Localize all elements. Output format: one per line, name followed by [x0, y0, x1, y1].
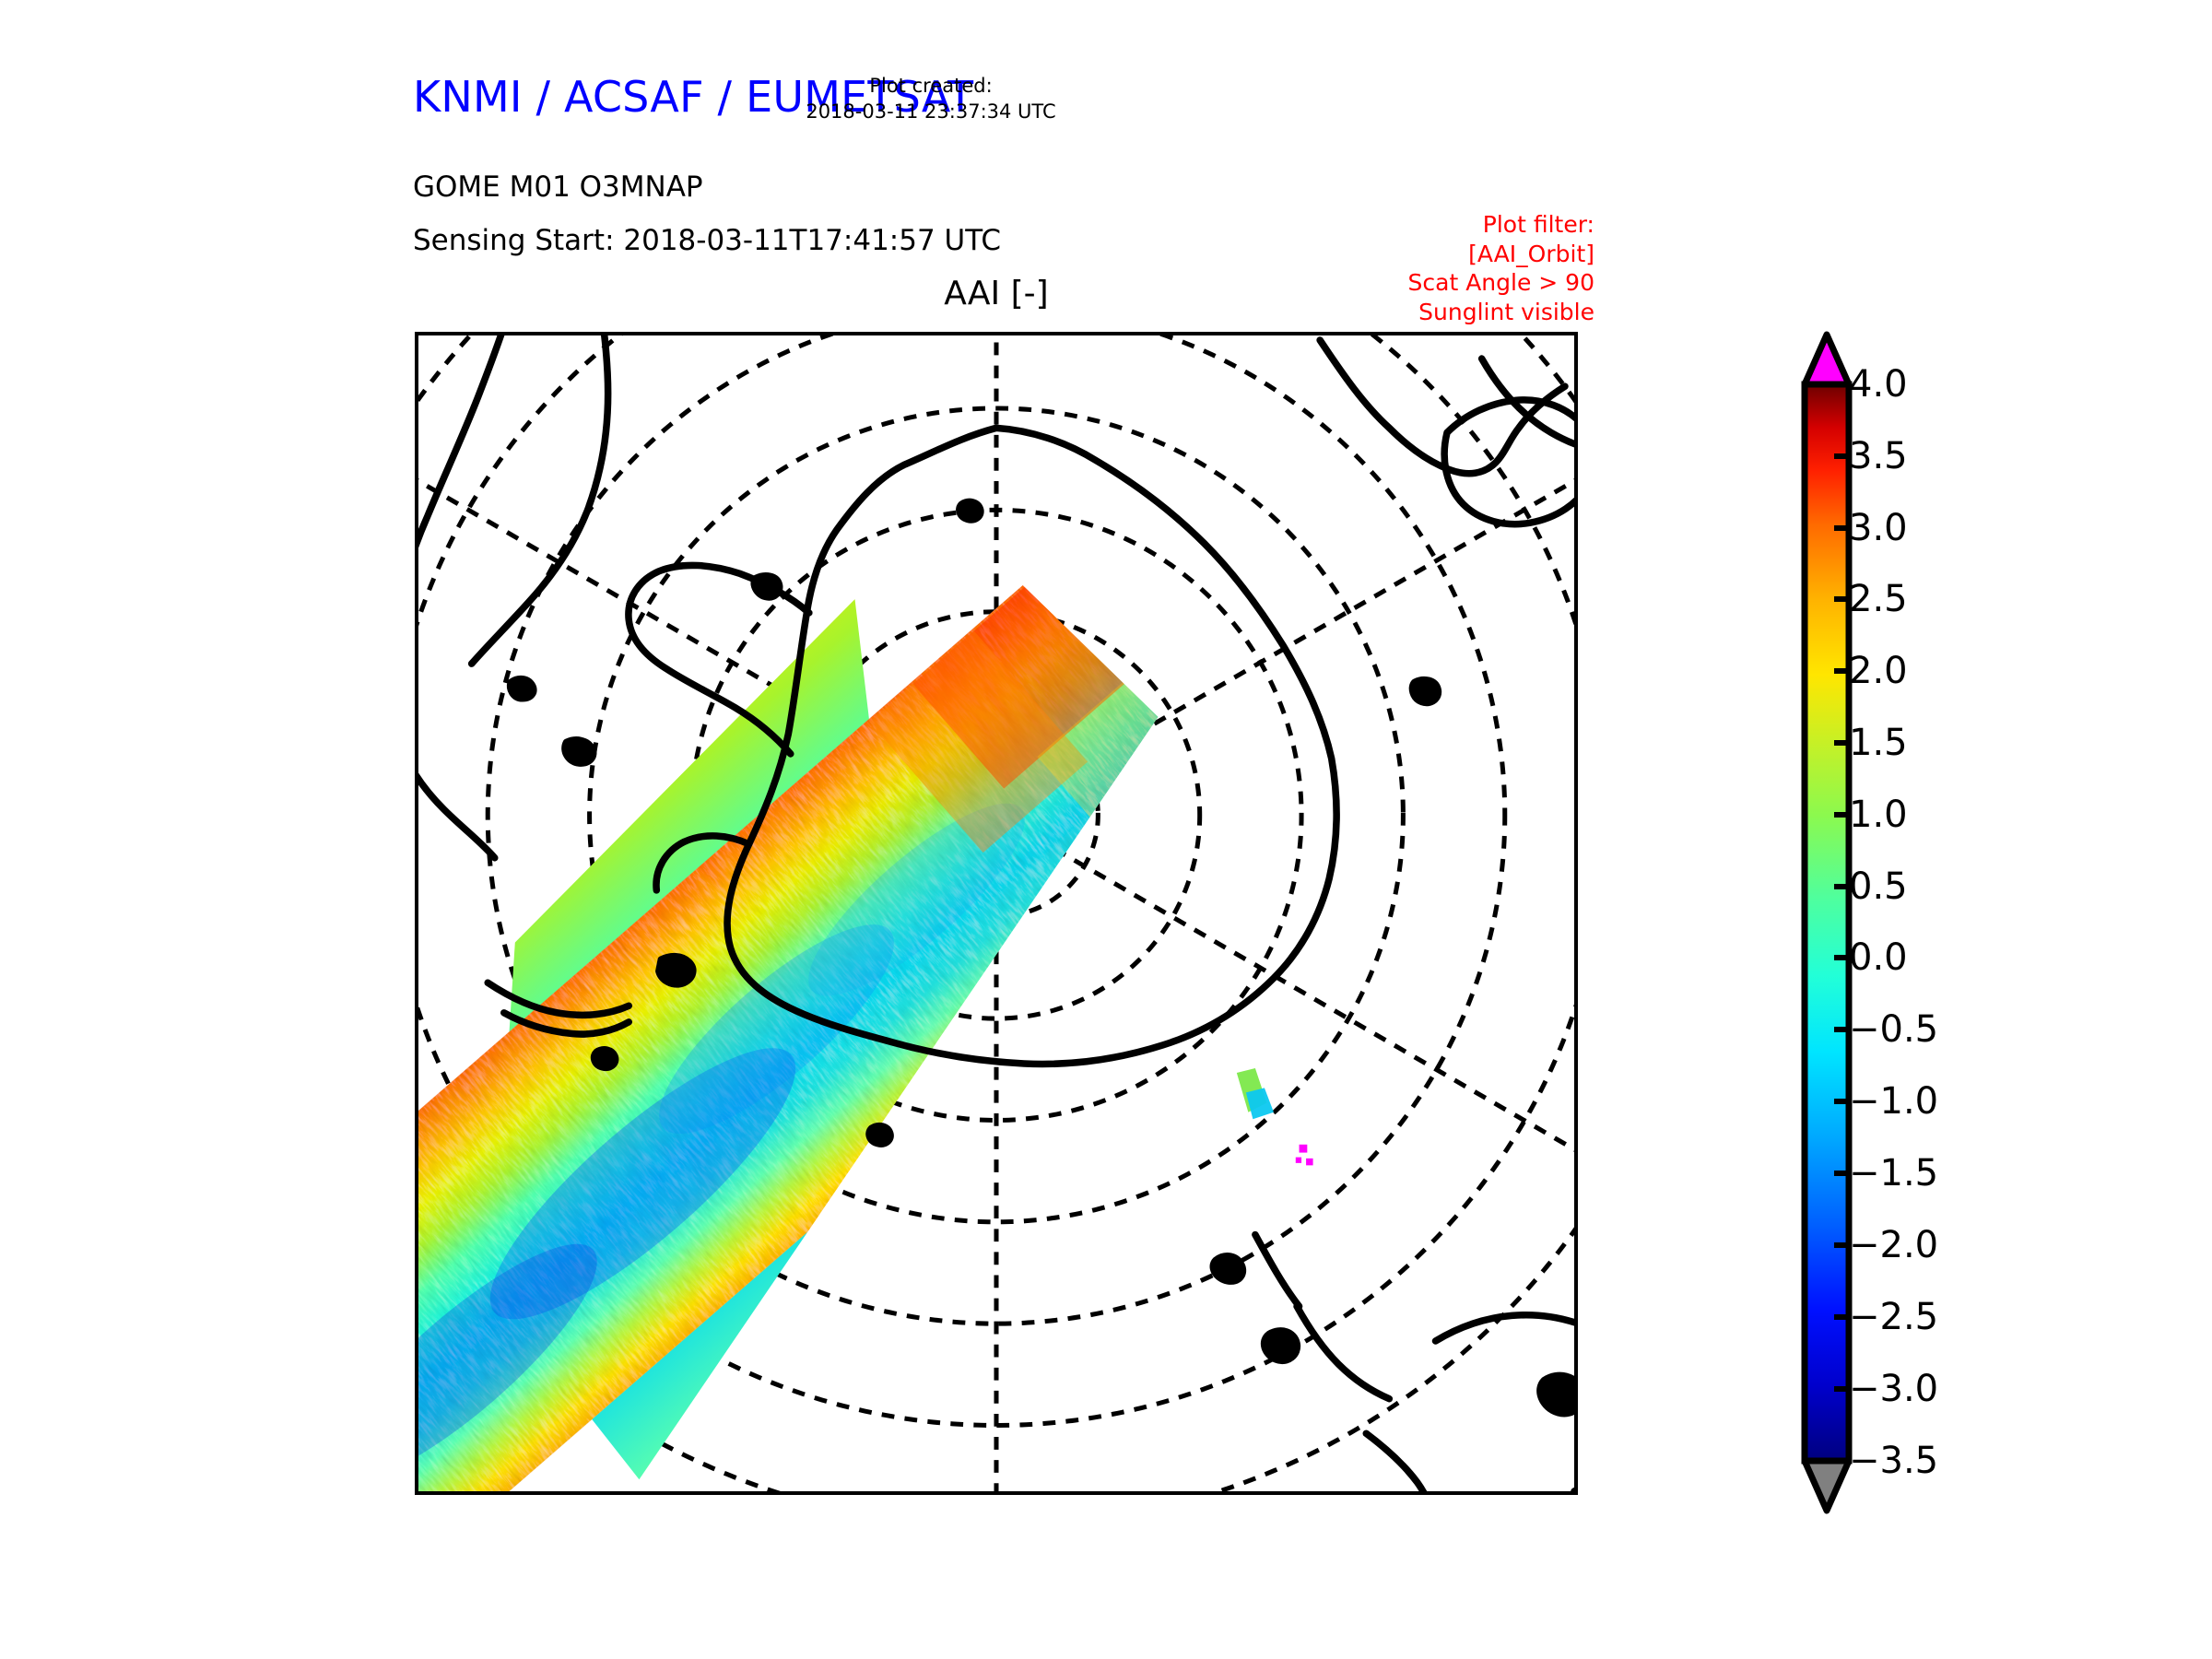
plot-filter-line-1: Plot filter:: [1226, 210, 1594, 240]
colorbar-tick-label: 3.0: [1849, 510, 1908, 547]
colorbar-tick-label: −3.5: [1849, 1442, 1938, 1479]
colorbar-tick-label: 3.5: [1849, 438, 1908, 475]
plot-created-value: 2018-03-11 23:37:34 UTC: [737, 100, 1124, 125]
colorbar-tick-label: 1.0: [1849, 796, 1908, 833]
colorbar-tick-label: −1.5: [1849, 1155, 1938, 1192]
colorbar-over-arrow: [1805, 335, 1849, 384]
colorbar-tick-label: −2.5: [1849, 1299, 1938, 1335]
colorbar-tick-label: 2.5: [1849, 581, 1908, 618]
colorbar-tick-label: 0.5: [1849, 868, 1908, 905]
plot-filter-line-2: [AAI_Orbit]: [1226, 240, 1594, 269]
colorbar-tick-label: −0.5: [1849, 1011, 1938, 1048]
colorbar-tick-label: −3.0: [1849, 1371, 1938, 1407]
colorbar-body: [1805, 384, 1849, 1461]
plot-created-block: Plot created: 2018-03-11 23:37:34 UTC: [737, 74, 1124, 124]
colorbar-tick-label: 1.5: [1849, 724, 1908, 761]
polar-stereographic-map: [418, 335, 1574, 1491]
over-range-pixels: [1296, 1145, 1313, 1166]
colorbar-under-arrow: [1805, 1461, 1849, 1511]
aai-swath-data: [418, 341, 1389, 1491]
aai-swath-fragment: [1237, 1068, 1274, 1119]
colorbar-tick-label: −1.0: [1849, 1083, 1938, 1120]
colorbar-tick-label: 0.0: [1849, 939, 1908, 976]
plot-created-label: Plot created:: [737, 74, 1124, 100]
colorbar-tick-label: −2.0: [1849, 1227, 1938, 1264]
colorbar-tick-label: 2.0: [1849, 653, 1908, 689]
product-name: GOME M01 O3MNAP: [413, 171, 703, 204]
colorbar: 4.0 3.5 3.0 2.5 2.0 1.5 1.0 0.5 0.0 −0.5…: [1797, 327, 2101, 1516]
map-plot-area[interactable]: [415, 332, 1578, 1495]
page-title: AAI [-]: [415, 275, 1578, 312]
colorbar-tick-label: 4.0: [1849, 366, 1908, 403]
sensing-start: Sensing Start: 2018-03-11T17:41:57 UTC: [413, 224, 1001, 257]
